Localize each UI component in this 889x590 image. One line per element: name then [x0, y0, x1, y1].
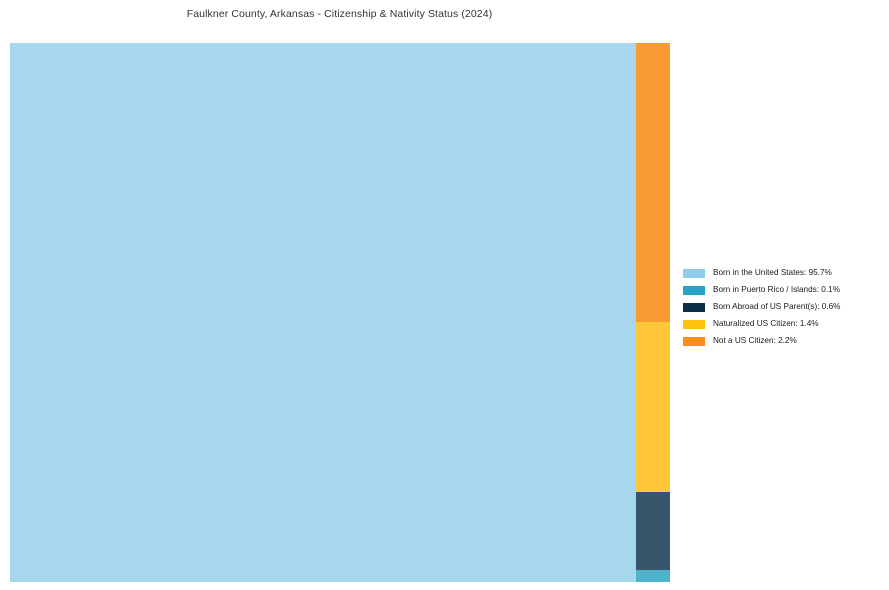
legend-item-label: Naturalized US Citizen: 1.4%: [713, 320, 819, 328]
legend-item-label: Born in Puerto Rico / Islands: 0.1%: [713, 286, 840, 294]
treemap-tile-born-in-the-united-states[interactable]: [10, 43, 636, 582]
legend-item[interactable]: Born Abroad of US Parent(s): 0.6%: [683, 299, 883, 316]
treemap-tile-born-abroad-of-us-parents[interactable]: [636, 492, 670, 570]
legend-swatch-icon: [683, 269, 705, 278]
legend-swatch-icon: [683, 303, 705, 312]
legend-item[interactable]: Born in the United States: 95.7%: [683, 265, 883, 282]
legend-item-label: Not a US Citizen: 2.2%: [713, 337, 797, 345]
treemap-tile-not-a-us-citizen[interactable]: [636, 43, 670, 322]
legend-item-label: Born in the United States: 95.7%: [713, 269, 832, 277]
chart-figure: Faulkner County, Arkansas - Citizenship …: [0, 0, 889, 590]
legend-item-label: Born Abroad of US Parent(s): 0.6%: [713, 303, 840, 311]
legend-item[interactable]: Naturalized US Citizen: 1.4%: [683, 316, 883, 333]
legend-swatch-icon: [683, 286, 705, 295]
chart-legend: Born in the United States: 95.7% Born in…: [683, 265, 883, 350]
page-title: Faulkner County, Arkansas - Citizenship …: [0, 8, 679, 20]
treemap-plot-area: [10, 43, 670, 582]
legend-swatch-icon: [683, 337, 705, 346]
legend-item[interactable]: Born in Puerto Rico / Islands: 0.1%: [683, 282, 883, 299]
legend-swatch-icon: [683, 320, 705, 329]
treemap-tile-naturalized-us-citizen[interactable]: [636, 322, 670, 492]
legend-item[interactable]: Not a US Citizen: 2.2%: [683, 333, 883, 350]
treemap-tile-born-in-puerto-rico-islands[interactable]: [636, 570, 670, 582]
